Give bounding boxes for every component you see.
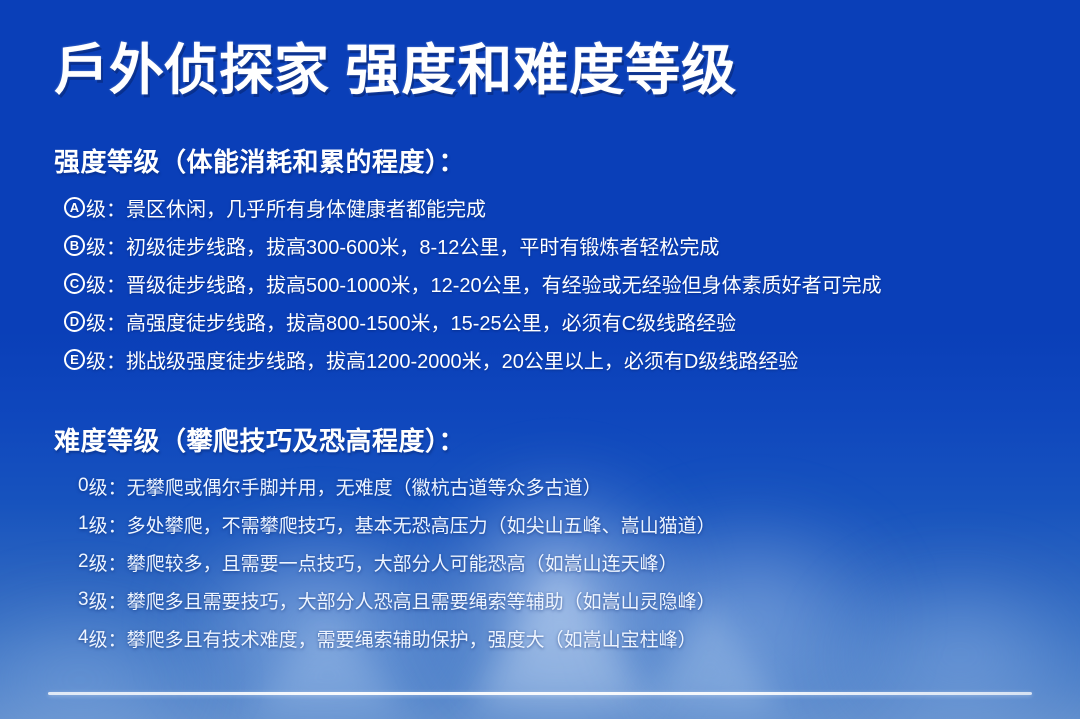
list-item: A 级：景区休闲，几乎所有身体健康者都能完成 xyxy=(54,188,1064,226)
list-item: 4 级：攀爬多且有技术难度，需要绳索辅助保护，强度大（如嵩山宝柱峰） xyxy=(54,619,1064,657)
difficulty-level-text: 级：攀爬多且有技术难度，需要绳索辅助保护，强度大（如嵩山宝柱峰） xyxy=(89,625,697,652)
bottom-divider xyxy=(48,692,1032,695)
grade-badge-c: C xyxy=(64,273,85,294)
title-block: 戶外侦探家 强度和难度等级 xyxy=(54,40,1034,100)
section-strength-levels: 强度等级（体能消耗和累的程度）： A 级：景区休闲，几乎所有身体健康者都能完成 … xyxy=(54,146,1064,378)
section-difficulty-levels: 难度等级（攀爬技巧及恐高程度）： 0 级：无攀爬或偶尔手脚并用，无难度（徽杭古道… xyxy=(54,425,1064,657)
list-item: D 级：高强度徒步线路，拔高800-1500米，15-25公里，必须有C级线路经… xyxy=(54,302,1064,340)
strength-level-list: A 级：景区休闲，几乎所有身体健康者都能完成 B 级：初级徒步线路，拔高300-… xyxy=(54,188,1064,378)
difficulty-level-text: 级：多处攀爬，不需攀爬技巧，基本无恐高压力（如尖山五峰、嵩山猫道） xyxy=(89,511,716,538)
difficulty-level-text: 级：无攀爬或偶尔手脚并用，无难度（徽杭古道等众多古道） xyxy=(89,473,602,500)
difficulty-level-number: 1 xyxy=(78,513,89,535)
difficulty-level-number: 4 xyxy=(78,627,89,649)
list-item: 0 级：无攀爬或偶尔手脚并用，无难度（徽杭古道等众多古道） xyxy=(54,467,1064,505)
difficulty-level-list: 0 级：无攀爬或偶尔手脚并用，无难度（徽杭古道等众多古道） 1 级：多处攀爬，不… xyxy=(54,467,1064,657)
list-item: E 级：挑战级强度徒步线路，拔高1200-2000米，20公里以上，必须有D级线… xyxy=(54,340,1064,378)
strength-level-text: 级：高强度徒步线路，拔高800-1500米，15-25公里，必须有C级线路经验 xyxy=(86,307,736,336)
difficulty-level-number: 0 xyxy=(78,475,89,497)
difficulty-level-number: 3 xyxy=(78,589,89,611)
poster-root: 戶外侦探家 强度和难度等级 强度等级（体能消耗和累的程度）： A 级：景区休闲，… xyxy=(0,0,1080,719)
list-item: 2 级：攀爬较多，且需要一点技巧，大部分人可能恐高（如嵩山连天峰） xyxy=(54,543,1064,581)
brand-name: 戶外侦探家 xyxy=(54,39,329,101)
list-item: 3 级：攀爬多且需要技巧，大部分人恐高且需要绳索等辅助（如嵩山灵隐峰） xyxy=(54,581,1064,619)
difficulty-level-text: 级：攀爬较多，且需要一点技巧，大部分人可能恐高（如嵩山连天峰） xyxy=(89,549,678,576)
strength-section-heading: 强度等级（体能消耗和累的程度）： xyxy=(54,146,1064,178)
title-main: 强度和难度等级 xyxy=(345,39,737,101)
strength-level-text: 级：初级徒步线路，拔高300-600米，8-12公里，平时有锻炼者轻松完成 xyxy=(86,231,719,260)
grade-badge-d: D xyxy=(64,311,85,332)
list-item: 1 级：多处攀爬，不需攀爬技巧，基本无恐高压力（如尖山五峰、嵩山猫道） xyxy=(54,505,1064,543)
difficulty-level-number: 2 xyxy=(78,551,89,573)
grade-badge-a: A xyxy=(64,197,85,218)
grade-badge-e: E xyxy=(64,349,85,370)
list-item: C 级：晋级徒步线路，拔高500-1000米，12-20公里，有经验或无经验但身… xyxy=(54,264,1064,302)
page-title: 戶外侦探家 强度和难度等级 xyxy=(54,40,1034,100)
strength-level-text: 级：挑战级强度徒步线路，拔高1200-2000米，20公里以上，必须有D级线路经… xyxy=(86,345,798,374)
strength-level-text: 级：景区休闲，几乎所有身体健康者都能完成 xyxy=(86,193,486,222)
difficulty-level-text: 级：攀爬多且需要技巧，大部分人恐高且需要绳索等辅助（如嵩山灵隐峰） xyxy=(89,587,716,614)
list-item: B 级：初级徒步线路，拔高300-600米，8-12公里，平时有锻炼者轻松完成 xyxy=(54,226,1064,264)
difficulty-section-heading: 难度等级（攀爬技巧及恐高程度）： xyxy=(54,425,1064,457)
strength-level-text: 级：晋级徒步线路，拔高500-1000米，12-20公里，有经验或无经验但身体素… xyxy=(86,269,882,298)
grade-badge-b: B xyxy=(64,235,85,256)
